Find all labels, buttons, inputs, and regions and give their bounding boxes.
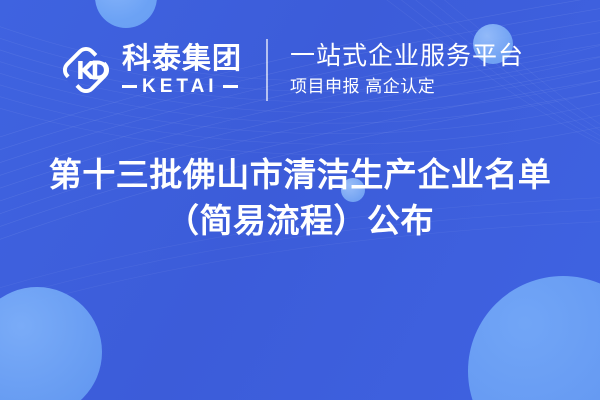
brand-lockup: 科泰集团 KETAI bbox=[58, 37, 242, 103]
decorative-circle-bottom-left bbox=[0, 287, 102, 400]
brand-name-cn: 科泰集团 bbox=[122, 44, 242, 74]
headline-block: 第十三批佛山市清洁生产企业名单 （简易流程）公布 bbox=[0, 152, 600, 243]
brand-wordmark: 科泰集团 KETAI bbox=[122, 41, 242, 99]
tagline-sub: 项目申报 高企认定 bbox=[290, 76, 524, 98]
ketai-diamond-kd-logo-icon bbox=[58, 42, 114, 98]
tagline-main: 一站式企业服务平台 bbox=[290, 42, 524, 72]
brand-name-en: KETAI bbox=[142, 77, 218, 96]
wordmark-rule-right bbox=[223, 85, 238, 88]
wordmark-rule-left bbox=[122, 85, 137, 88]
banner-header: 科泰集团 KETAI 一站式企业服务平台 项目申报 高企认定 bbox=[0, 0, 600, 140]
decorative-circle-bottom-right bbox=[468, 276, 600, 400]
headline-line-2: （简易流程）公布 bbox=[26, 198, 574, 244]
headline-line-1: 第十三批佛山市清洁生产企业名单 bbox=[26, 152, 574, 198]
tagline-block: 一站式企业服务平台 项目申报 高企认定 bbox=[290, 37, 524, 103]
promo-banner: 科泰集团 KETAI 一站式企业服务平台 项目申报 高企认定 第十三批佛山市清洁… bbox=[0, 0, 600, 400]
brand-name-en-row: KETAI bbox=[122, 77, 242, 96]
header-divider bbox=[266, 39, 268, 101]
